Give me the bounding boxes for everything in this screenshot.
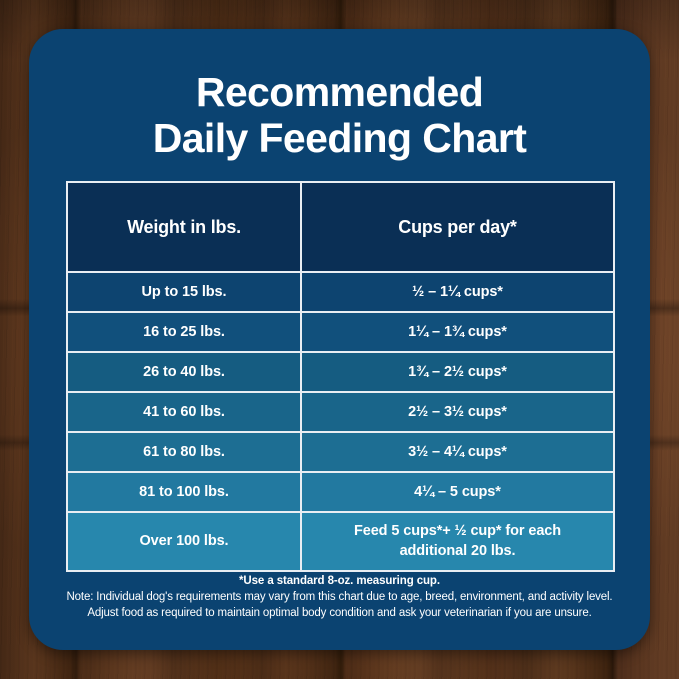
feeding-table: Weight in lbs. Cups per day* Up to 15 lb… — [66, 181, 615, 572]
table-row: 81 to 100 lbs. 4¼ – 5 cups* — [67, 472, 614, 512]
footnote-note-line-2: Adjust food as required to maintain opti… — [43, 605, 636, 621]
cell-weight: Over 100 lbs. — [67, 512, 301, 571]
column-header-weight: Weight in lbs. — [67, 182, 301, 272]
cell-cups-line-1: Feed 5 cups*+ ½ cup* for each — [354, 523, 561, 539]
page-title-line-1: Recommended — [75, 70, 604, 116]
page-title: Recommended Daily Feeding Chart — [29, 29, 650, 162]
cell-weight: 81 to 100 lbs. — [67, 472, 301, 512]
cell-weight: Up to 15 lbs. — [67, 272, 301, 312]
footnotes: *Use a standard 8-oz. measuring cup. Not… — [43, 575, 636, 622]
table-row: 41 to 60 lbs. 2½ – 3½ cups* — [67, 392, 614, 432]
cell-cups: 3½ – 4¼ cups* — [301, 432, 614, 472]
table-body: Up to 15 lbs. ½ – 1¼ cups* 16 to 25 lbs.… — [67, 272, 614, 571]
cell-cups: ½ – 1¼ cups* — [301, 272, 614, 312]
cell-cups: 1¾ – 2½ cups* — [301, 352, 614, 392]
table-row: 16 to 25 lbs. 1¼ – 1¾ cups* — [67, 312, 614, 352]
table-row: 26 to 40 lbs. 1¾ – 2½ cups* — [67, 352, 614, 392]
cell-cups: 4¼ – 5 cups* — [301, 472, 614, 512]
cell-cups-line-2: additional 20 lbs. — [400, 543, 516, 559]
cell-weight: 16 to 25 lbs. — [67, 312, 301, 352]
table-row: Up to 15 lbs. ½ – 1¼ cups* — [67, 272, 614, 312]
table-row: 61 to 80 lbs. 3½ – 4¼ cups* — [67, 432, 614, 472]
page-title-line-2: Daily Feeding Chart — [75, 116, 604, 162]
footnote-measuring-cup: *Use a standard 8-oz. measuring cup. — [43, 575, 636, 587]
table-header: Weight in lbs. Cups per day* — [67, 182, 614, 272]
cell-weight: 26 to 40 lbs. — [67, 352, 301, 392]
column-header-cups: Cups per day* — [301, 182, 614, 272]
table-header-row: Weight in lbs. Cups per day* — [67, 182, 614, 272]
cell-cups: 2½ – 3½ cups* — [301, 392, 614, 432]
cell-cups: 1¼ – 1¾ cups* — [301, 312, 614, 352]
table-row: Over 100 lbs. Feed 5 cups*+ ½ cup* for e… — [67, 512, 614, 571]
cell-weight: 61 to 80 lbs. — [67, 432, 301, 472]
cell-cups: Feed 5 cups*+ ½ cup* for each additional… — [301, 512, 614, 571]
footnote-note-line-1: Note: Individual dog's requirements may … — [43, 589, 636, 605]
cell-weight: 41 to 60 lbs. — [67, 392, 301, 432]
feeding-chart-card: Recommended Daily Feeding Chart Weight i… — [29, 29, 650, 650]
